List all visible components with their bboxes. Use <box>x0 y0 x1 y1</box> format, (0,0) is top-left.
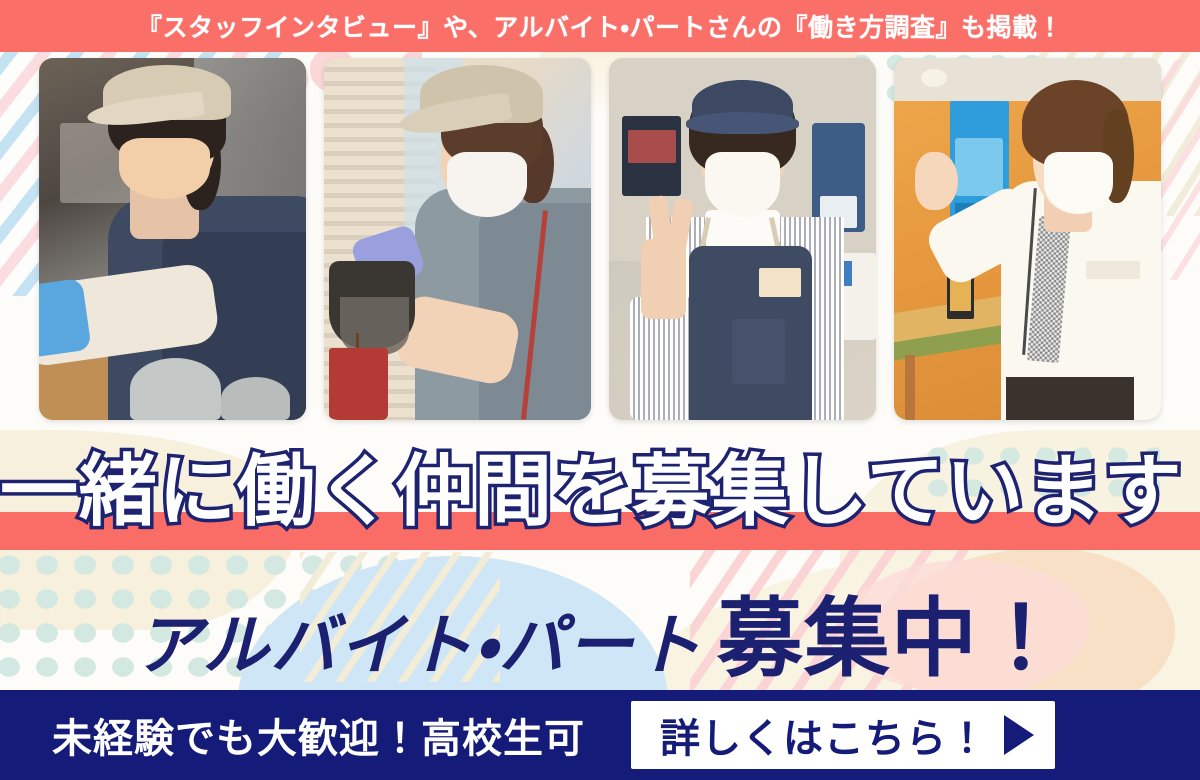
header-text: 『スタッフインタビュー』や、アルバイト・パートさんの『働き方調査』も掲載！ <box>137 8 1063 44</box>
details-cta-button[interactable]: 詳しくはこちら！ <box>631 701 1055 769</box>
headline-secondary-part-a: アルバイト・パート <box>135 592 703 688</box>
arrow-right-icon <box>1004 715 1034 755</box>
photo-strip <box>0 58 1200 448</box>
footer-bar: 未経験でも大歓迎！高校生可 詳しくはこちら！ <box>0 690 1200 780</box>
photo-kitchen-staff <box>39 58 306 420</box>
headline-secondary-part-b: 募集中！ <box>717 568 1065 693</box>
photo-presenting-staff <box>894 58 1161 420</box>
photo-pouring-coffee <box>324 58 591 420</box>
headline-primary: 一緒に働く仲間を募集しています！ <box>0 452 1200 530</box>
headline-secondary: アルバイト・パート 募集中！ <box>0 568 1200 693</box>
header-bar: 『スタッフインタビュー』や、アルバイト・パートさんの『働き方調査』も掲載！ <box>0 0 1200 52</box>
footer-tagline: 未経験でも大歓迎！高校生可 <box>52 706 585 764</box>
photo-peace-sign-staff <box>609 58 876 420</box>
recruitment-banner: 『スタッフインタビュー』や、アルバイト・パートさんの『働き方調査』も掲載！ <box>0 0 1200 780</box>
details-cta-label: 詳しくはこちら！ <box>660 706 988 764</box>
